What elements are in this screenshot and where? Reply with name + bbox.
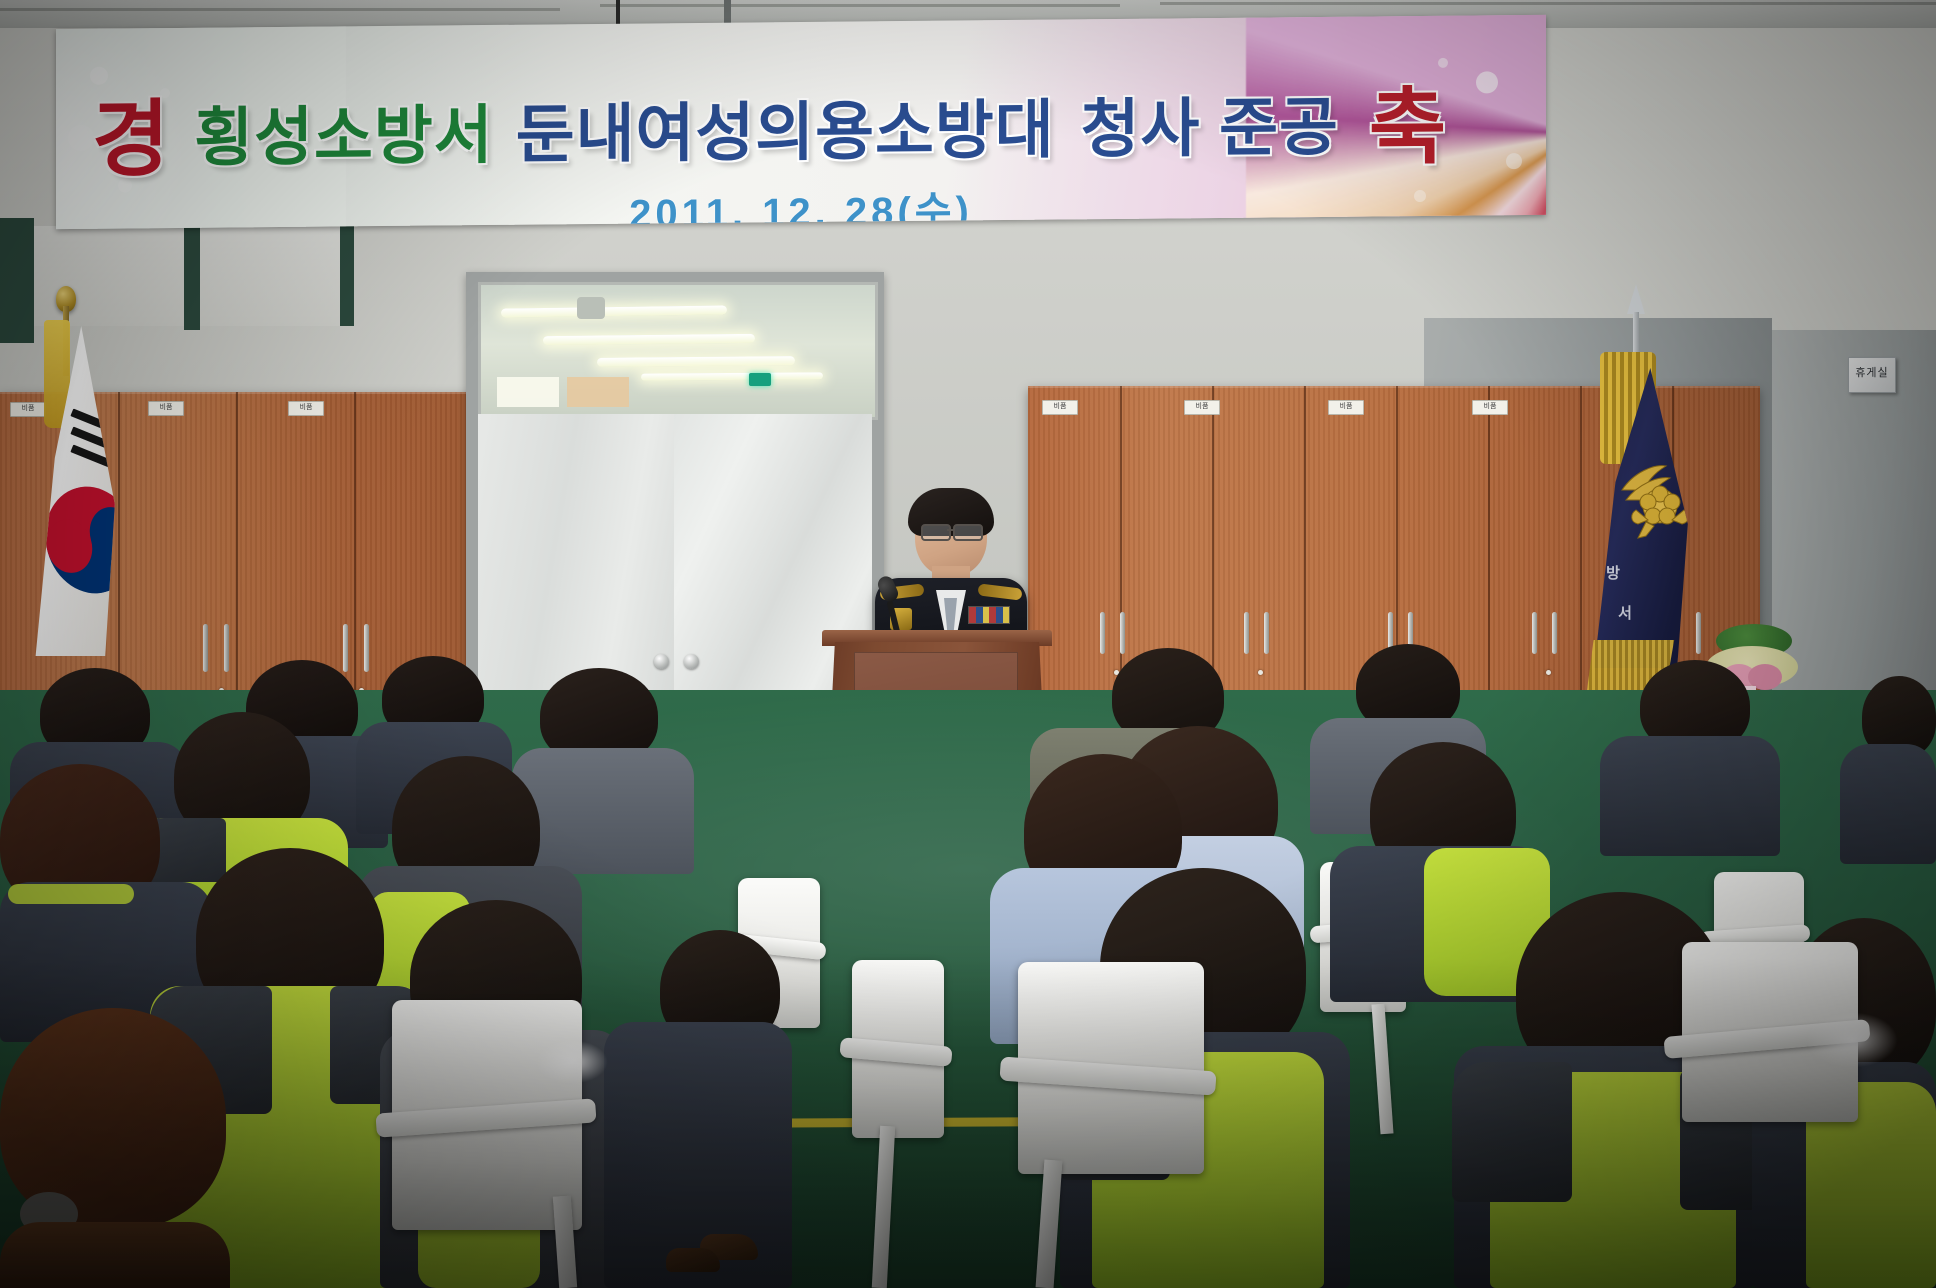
cabinet-handle[interactable] [203,624,208,672]
ceremony-banner: 경 횡성소방서 둔내여성의용소방대 청사 준공 축 2011. 12. 28(수… [56,15,1546,229]
fire-flag-text-2: 서 [1612,604,1638,624]
cabinet-handle[interactable] [1120,612,1125,654]
collar-hi-vis-trim [8,884,134,904]
shoe [666,1248,720,1272]
cabinet-handle[interactable] [1264,612,1269,654]
wall-post-mid [184,218,200,330]
door-pair[interactable] [478,414,872,720]
cabinet-label: 비품 [1472,400,1508,415]
fluorescent-tube [641,372,823,380]
flag-spear-right [1627,284,1645,314]
cabinet-handle[interactable] [224,624,229,672]
fluorescent-tube [597,356,795,367]
window-reflection [567,377,629,407]
cabinet-handle[interactable] [343,624,348,672]
camera-flash-highlight [536,1040,608,1084]
cabinet-handle[interactable] [1532,612,1537,654]
wall-post-mid2 [340,222,354,326]
cabinet-label: 비품 [10,402,46,417]
transom-window [478,282,878,420]
fluorescent-tube [501,305,727,317]
cabinet-label: 비품 [1042,400,1078,415]
cabinet-label: 비품 [1328,400,1364,415]
wall-sign-breakroom: 휴게실 [1848,357,1896,393]
cabinet-handle[interactable] [1100,612,1105,654]
cabinet-handle[interactable] [1552,612,1557,654]
banner-org-name: 횡성소방서 [194,83,493,178]
cabinet-lock[interactable] [1258,670,1263,675]
photo-scene: 휴게실 경 횡성소방서 둔내여성의용소방대 청사 준공 축 2011. 12. … [0,0,1936,1288]
camera-flash-highlight [1806,1012,1898,1068]
glasses-lens-left [921,524,951,541]
ponytail [0,1222,230,1288]
banner-unit-name: 둔내여성의용소방대 [516,78,1055,175]
cabinet-handle[interactable] [1696,612,1701,654]
fluorescent-tube [543,334,755,345]
medal-ribbon-bar [968,606,1010,624]
banner-left-char: 경 [92,72,170,194]
cabinet-handle[interactable] [364,624,369,672]
exit-sign [749,373,771,386]
glasses-lens-right [953,524,983,541]
cabinet-label: 비품 [288,401,324,416]
cabinet-handle[interactable] [1244,612,1249,654]
wall-panel-2 [200,226,340,326]
vest-shoulder-panel [1452,1062,1572,1202]
cabinet-label: 비품 [1184,400,1220,415]
wall-panel-1 [34,226,184,326]
door-knob-left[interactable] [654,654,669,669]
window-glare [497,377,559,407]
glasses-bridge [947,529,955,531]
banner-right-char: 축 [1369,60,1447,182]
banner-event-name: 청사 준공 [1081,75,1339,169]
ceiling-fixture [577,297,605,319]
door-knob-right[interactable] [684,654,699,669]
cabinet-label: 비품 [148,401,184,416]
banner-title-row: 경 횡성소방서 둔내여성의용소방대 청사 준공 축 [92,59,1512,194]
wall-post-left [0,218,34,343]
cabinet-lock[interactable] [1546,670,1551,675]
